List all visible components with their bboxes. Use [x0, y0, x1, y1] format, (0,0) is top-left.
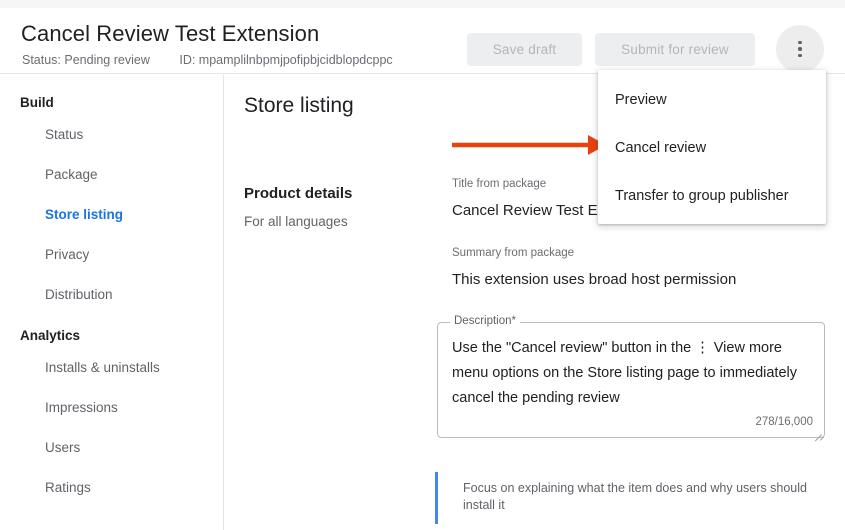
sidebar-item-installs-uninstalls[interactable]: Installs & uninstalls — [0, 356, 223, 379]
submit-for-review-button[interactable]: Submit for review — [595, 33, 755, 66]
sidebar-item-package[interactable]: Package — [0, 163, 223, 186]
product-details-subtitle: For all languages — [244, 214, 348, 229]
save-draft-button[interactable]: Save draft — [467, 33, 582, 66]
resize-grip-icon[interactable] — [813, 426, 822, 435]
sidebar-item-impressions[interactable]: Impressions — [0, 396, 223, 419]
description-character-counter: 278/16,000 — [755, 416, 813, 428]
sidebar-item-privacy[interactable]: Privacy — [0, 243, 223, 266]
more-vert-icon — [798, 41, 802, 45]
more-vert-icon-dot — [798, 47, 802, 51]
summary-from-package-value: This extension uses broad host permissio… — [452, 271, 736, 288]
header-meta: Status: Pending review ID: mpamplilnbpmj… — [22, 53, 393, 67]
main-page-title: Store listing — [244, 94, 354, 118]
nav-group-analytics-title: Analytics — [0, 324, 223, 348]
menu-item-transfer-to-group-publisher[interactable]: Transfer to group publisher — [598, 172, 826, 220]
status-text: Status: Pending review — [22, 53, 150, 67]
app-root: Cancel Review Test Extension Status: Pen… — [0, 0, 845, 530]
more-options-menu: Preview Cancel review Transfer to group … — [598, 70, 826, 224]
description-hint-callout: Focus on explaining what the item does a… — [435, 472, 825, 524]
description-field[interactable]: Description* 278/16,000 — [437, 322, 825, 438]
sidebar-item-status[interactable]: Status — [0, 123, 223, 146]
more-vert-icon-dot — [798, 54, 802, 58]
description-label: Description* — [450, 315, 520, 327]
description-hint-text: Focus on explaining what the item does a… — [463, 480, 823, 514]
title-from-package-label: Title from package — [452, 178, 546, 190]
product-details-heading: Product details — [244, 185, 352, 202]
page-title: Cancel Review Test Extension — [21, 21, 319, 47]
more-options-button[interactable] — [776, 25, 824, 73]
sidebar-item-users[interactable]: Users — [0, 436, 223, 459]
nav-group-build-title: Build — [0, 91, 223, 115]
menu-item-cancel-review[interactable]: Cancel review — [598, 124, 826, 172]
sidebar-item-store-listing[interactable]: Store listing — [0, 203, 223, 226]
page-header: Cancel Review Test Extension Status: Pen… — [0, 8, 845, 74]
summary-from-package-label: Summary from package — [452, 247, 574, 259]
description-input[interactable] — [452, 336, 804, 414]
sidebar-nav: Build Status Package Store listing Priva… — [0, 75, 224, 530]
menu-item-preview[interactable]: Preview — [598, 76, 826, 124]
sidebar-item-ratings[interactable]: Ratings — [0, 476, 223, 499]
annotation-arrow-icon — [448, 130, 608, 160]
extension-id-text: ID: mpamplilnbpmjpofipbjcidblopdcppc — [179, 53, 392, 67]
sidebar-item-distribution[interactable]: Distribution — [0, 283, 223, 306]
window-top-strip — [0, 0, 845, 8]
